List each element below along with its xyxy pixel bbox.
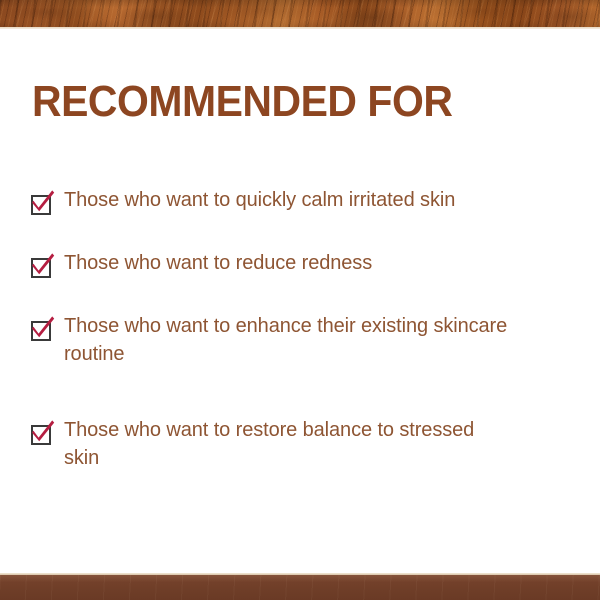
list-item[interactable]: Those who want to reduce redness (30, 249, 570, 279)
brown-footer-bar (0, 575, 600, 600)
list-item[interactable]: Those who want to restore balance to str… (30, 416, 570, 473)
checkbox-box (31, 258, 51, 278)
top-band-divider (0, 27, 600, 29)
list-item[interactable]: Those who want to quickly calm irritated… (30, 186, 570, 216)
checkbox-box (31, 321, 51, 341)
list-item-label: Those who want to quickly calm irritated… (56, 186, 570, 214)
checkbox-box (31, 195, 51, 215)
list-item-label: Those who want to restore balance to str… (56, 416, 494, 473)
wood-shading-layer (0, 0, 600, 27)
checkbox-checked[interactable] (30, 318, 56, 342)
list-item-label: Those who want to reduce redness (56, 249, 570, 277)
slide-canvas: RECOMMENDED FOR Those who want to quickl… (0, 0, 600, 600)
footer-sheen-layer (0, 575, 600, 600)
checkbox-box (31, 425, 51, 445)
recommended-for-list: Those who want to quickly calm irritated… (30, 186, 570, 473)
list-item-label: Those who want to enhance their existing… (56, 312, 519, 369)
checkbox-checked[interactable] (30, 192, 56, 216)
page-title: RECOMMENDED FOR (32, 80, 452, 124)
wood-texture-banner (0, 0, 600, 27)
checkbox-checked[interactable] (30, 255, 56, 279)
list-item[interactable]: Those who want to enhance their existing… (30, 312, 570, 369)
checkbox-checked[interactable] (30, 422, 56, 446)
